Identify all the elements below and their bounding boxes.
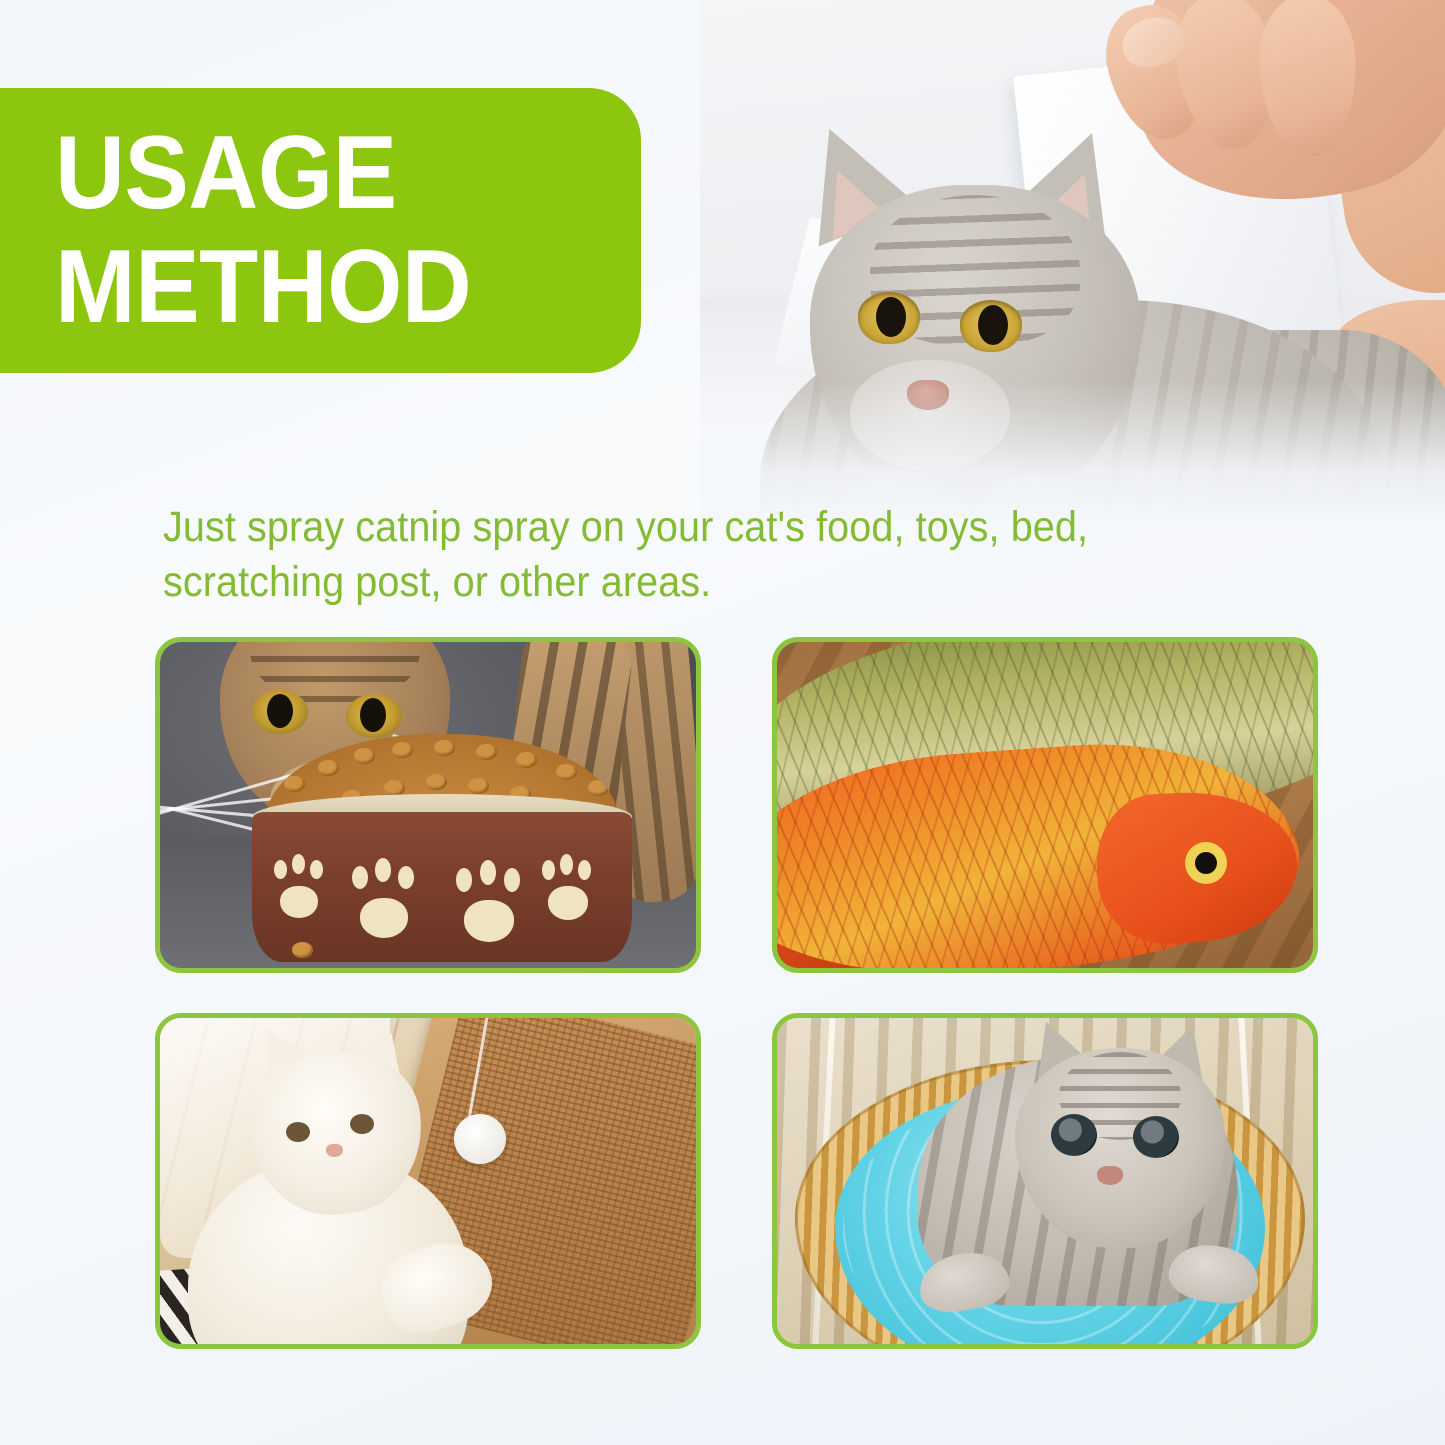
food-bowl — [252, 812, 632, 962]
paw-toe — [504, 868, 520, 892]
paw-toe — [398, 866, 414, 889]
kibble — [476, 744, 497, 760]
cat-pupil-left — [267, 694, 293, 728]
food-bowl-scene — [160, 642, 696, 968]
kibble — [354, 748, 375, 764]
stray-kibble — [292, 942, 313, 958]
paw-toe — [560, 854, 573, 875]
paw-toe — [480, 860, 496, 885]
cat-eye-left — [286, 1122, 310, 1142]
banner-title-line-2: METHOD — [55, 238, 600, 338]
paw-toe — [292, 854, 305, 874]
kibble — [426, 774, 447, 790]
banner-title-line-1: USAGE — [55, 124, 600, 224]
paw-print — [280, 886, 318, 918]
kitten-head — [1015, 1048, 1225, 1248]
kibble — [318, 760, 339, 776]
paw-toe — [274, 860, 287, 879]
kibble — [392, 742, 413, 758]
kitten-nose — [1097, 1166, 1123, 1185]
paw-print — [464, 900, 514, 942]
kibble — [284, 776, 305, 792]
kibble — [516, 752, 537, 768]
paw-toe — [310, 860, 323, 879]
tile-fish-toys — [772, 637, 1318, 973]
cat-muzzle — [850, 360, 1010, 470]
usage-photo-grid — [155, 637, 1318, 1349]
cat-pupil-right — [360, 698, 386, 732]
scratching-post-scene — [160, 1018, 696, 1344]
cat-being-wiped-photo — [700, 0, 1445, 520]
fish-toys-scene — [777, 642, 1313, 968]
tile-food-bowl — [155, 637, 701, 973]
paw-toe — [456, 868, 472, 892]
kibble — [588, 780, 609, 796]
kitten-eye-left — [1051, 1114, 1097, 1156]
cat-pupil-left — [876, 297, 906, 337]
usage-caption: Just spray catnip spray on your cat's fo… — [163, 500, 1193, 610]
kibble — [468, 778, 489, 794]
kitten-eye-right — [1133, 1116, 1179, 1158]
kibble — [556, 764, 577, 780]
cat-nose — [326, 1144, 343, 1157]
paw-toe — [578, 860, 591, 880]
cat-eye-right — [350, 1114, 374, 1134]
cat-bed-scene — [777, 1018, 1313, 1344]
paw-print — [360, 898, 408, 938]
paw-toe — [542, 860, 555, 880]
cat-pupil-right — [978, 305, 1008, 345]
pompom-toy — [454, 1114, 506, 1164]
cat-nose — [907, 380, 949, 410]
tile-cat-bed — [772, 1013, 1318, 1349]
paw-toe — [375, 858, 391, 882]
fish-eye — [1185, 842, 1227, 884]
tile-scratching-post — [155, 1013, 701, 1349]
paw-print — [548, 886, 588, 920]
usage-method-banner: USAGE METHOD — [0, 88, 641, 373]
paw-toe — [352, 866, 368, 889]
kibble — [434, 740, 455, 756]
